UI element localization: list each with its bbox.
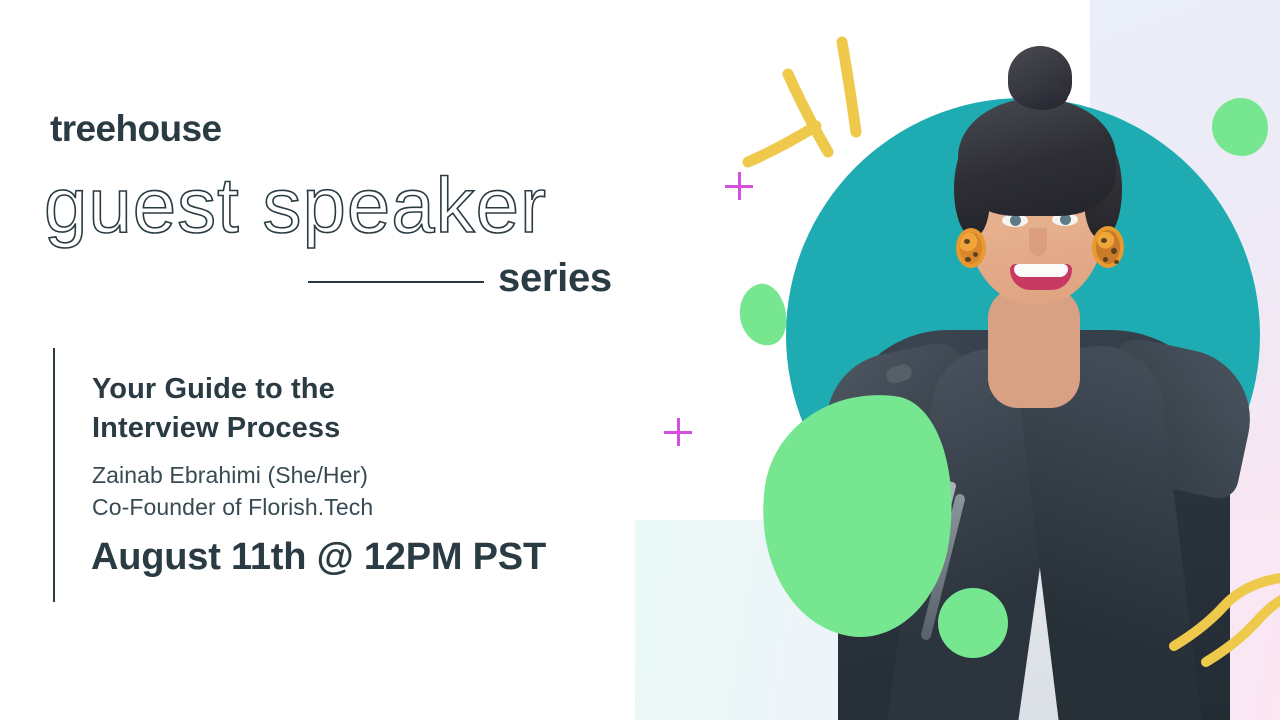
green-dot-icon bbox=[938, 588, 1008, 658]
yellow-wavy-lines-icon bbox=[1160, 570, 1280, 680]
promo-slide: treehouse guest speaker series Your Guid… bbox=[0, 0, 1280, 720]
hair-bun-wrap bbox=[1016, 80, 1068, 110]
magenta-plus-lower-icon bbox=[664, 418, 692, 446]
speaker-block: Zainab Ebrahimi (She/Her) Co-Founder of … bbox=[92, 460, 373, 523]
speaker-role: Co-Founder of Florish.Tech bbox=[92, 492, 373, 524]
green-blob-small-icon bbox=[733, 279, 793, 350]
headline-outline: guest speaker bbox=[44, 160, 547, 251]
leopard-hoop-earring-left bbox=[956, 228, 986, 268]
talk-title-line-1: Your Guide to the bbox=[92, 370, 340, 409]
nose bbox=[1029, 228, 1047, 256]
magenta-plus-upper-icon bbox=[725, 172, 753, 200]
series-label: series bbox=[498, 256, 612, 301]
hair-top bbox=[958, 98, 1116, 216]
content-column: treehouse guest speaker series Your Guid… bbox=[0, 0, 660, 720]
speaker-name: Zainab Ebrahimi (She/Her) bbox=[92, 460, 373, 492]
teeth bbox=[1014, 264, 1068, 277]
neck bbox=[988, 288, 1080, 408]
iris-left bbox=[1010, 215, 1021, 226]
vertical-divider-rule bbox=[53, 348, 55, 602]
brand-name: treehouse bbox=[50, 108, 221, 150]
talk-title: Your Guide to the Interview Process bbox=[92, 370, 340, 448]
event-datetime: August 11th @ 12PM PST bbox=[91, 536, 546, 579]
leopard-hoop-earring-right bbox=[1092, 226, 1124, 268]
yellow-spark-strokes-icon bbox=[740, 30, 900, 230]
talk-title-line-2: Interview Process bbox=[92, 409, 340, 448]
series-divider-rule bbox=[308, 281, 484, 283]
